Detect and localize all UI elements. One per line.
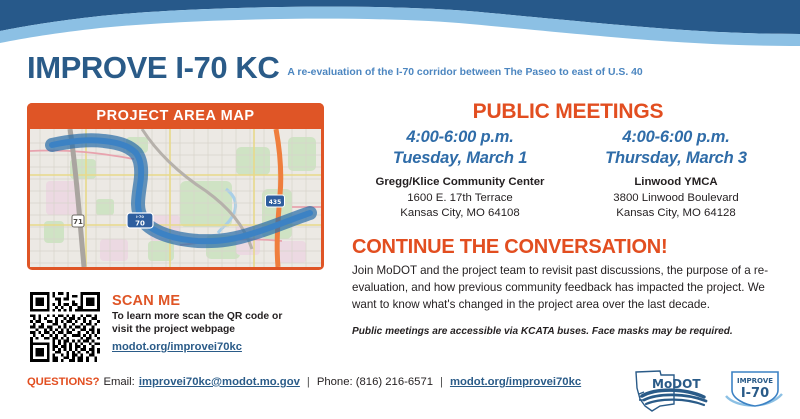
i70-label: I-70 xyxy=(741,386,769,401)
improve-i70-logo: IMPROVE I-70 xyxy=(722,366,788,414)
meeting-address-line-1: 1600 E. 17th Terrace xyxy=(352,191,568,207)
meeting-date: Thursday, March 3 xyxy=(568,148,784,169)
questions-label: QUESTIONS? xyxy=(27,376,99,388)
qr-project-webpage-link[interactable]: modot.org/improvei70kc xyxy=(112,340,242,355)
qr-instruction-line-1: To learn more scan the QR code or xyxy=(112,310,282,324)
meeting-address-line-2: Kansas City, MO 64128 xyxy=(568,206,784,222)
contact-email-link[interactable]: improvei70kc@modot.mo.gov xyxy=(139,376,300,388)
meeting-date: Tuesday, March 1 xyxy=(352,148,568,169)
improve-label: IMPROVE xyxy=(737,377,773,385)
footer-separator-1: | xyxy=(307,376,310,388)
meeting-address-line-1: 3800 Linwood Boulevard xyxy=(568,191,784,207)
meeting-time: 4:00-6:00 p.m. xyxy=(568,127,784,148)
continue-conversation-heading: CONTINUE THE CONVERSATION! xyxy=(352,236,784,258)
map-graphic: I-70 70 435 71 xyxy=(30,129,321,267)
footer-separator-2: | xyxy=(440,376,443,388)
meeting-time: 4:00-6:00 p.m. xyxy=(352,127,568,148)
header-wave-decoration xyxy=(0,0,800,46)
meeting-address-line-2: Kansas City, MO 64108 xyxy=(352,206,568,222)
right-content-column: PUBLIC MEETINGS 4:00-6:00 p.m. Tuesday, … xyxy=(352,100,784,338)
meeting-card-1: 4:00-6:00 p.m. Tuesday, March 1 Gregg/Kl… xyxy=(352,127,568,222)
accessibility-note: Public meetings are accessible via KCATA… xyxy=(352,325,784,338)
meeting-card-2: 4:00-6:00 p.m. Thursday, March 3 Linwood… xyxy=(568,127,784,222)
header-title-row: IMPROVE I-70 KC A re-evaluation of the I… xyxy=(27,52,783,83)
map-shield-i70: I-70 70 xyxy=(127,213,153,228)
svg-text:I-70: I-70 xyxy=(136,215,144,219)
project-website-link[interactable]: modot.org/improvei70kc xyxy=(450,376,581,388)
qr-text-block: SCAN ME To learn more scan the QR code o… xyxy=(112,292,282,362)
map-banner-label: PROJECT AREA MAP xyxy=(27,103,324,129)
svg-text:71: 71 xyxy=(73,218,83,226)
map-shield-i435: 435 xyxy=(266,195,285,207)
qr-instruction-line-2: visit the project webpage xyxy=(112,323,282,337)
continue-conversation-body: Join MoDOT and the project team to revis… xyxy=(352,262,784,314)
scan-me-heading: SCAN ME xyxy=(112,293,282,310)
map-image: I-70 70 435 71 xyxy=(30,129,321,267)
public-meetings-heading: PUBLIC MEETINGS xyxy=(352,100,784,123)
meeting-venue: Gregg/Klice Community Center xyxy=(352,175,568,190)
qr-code-image[interactable] xyxy=(30,292,100,362)
footer-contact-bar: QUESTIONS? Email: improvei70kc@modot.mo.… xyxy=(27,376,581,388)
meetings-list: 4:00-6:00 p.m. Tuesday, March 1 Gregg/Kl… xyxy=(352,127,784,222)
meeting-venue: Linwood YMCA xyxy=(568,175,784,190)
svg-text:70: 70 xyxy=(135,220,145,228)
modot-logo: MoDOT xyxy=(630,366,722,414)
qr-section: SCAN ME To learn more scan the QR code o… xyxy=(30,292,282,362)
page-subtitle: A re-evaluation of the I-70 corridor bet… xyxy=(287,67,642,78)
page-title: IMPROVE I-70 KC xyxy=(27,52,279,83)
svg-text:435: 435 xyxy=(269,199,282,206)
map-shield-us71: 71 xyxy=(72,215,84,227)
contact-phone: Phone: (816) 216-6571 xyxy=(317,376,433,388)
email-label: Email: xyxy=(103,376,134,388)
logo-group: MoDOT IMPROVE I-70 xyxy=(630,366,788,414)
project-area-map-card: PROJECT AREA MAP xyxy=(27,103,324,270)
